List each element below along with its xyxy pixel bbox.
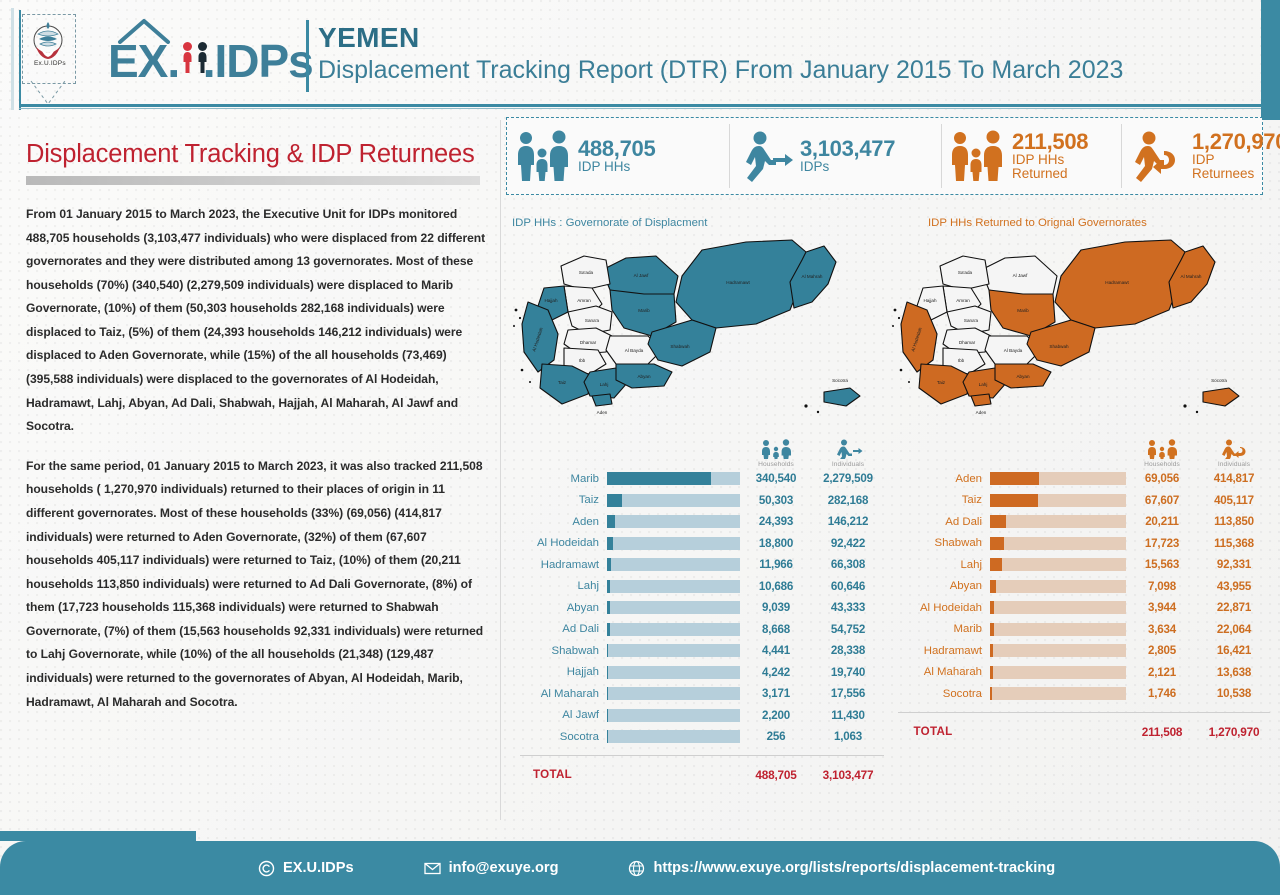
table-row: Hajjah4,24219,740 [506,662,884,684]
map-label-saada: Sa'ada [579,270,594,275]
map-label-socotra: Socotra [832,378,848,383]
column-label: Individuals [832,461,864,468]
table-row: Al Maharah3,17117,556 [506,683,884,705]
row-bar-track [990,623,1126,636]
row-individuals-value: 405,117 [1198,494,1270,507]
row-bar-fill [607,601,610,614]
region-aden [971,394,991,406]
row-bar [607,666,740,679]
row-bar-track [607,494,740,507]
row-individuals-value: 92,331 [1198,558,1270,571]
column-label: Households [1144,461,1180,468]
table-row: Shabwah4,44128,338 [506,640,884,662]
row-bar [990,472,1126,485]
walking-person-arrow-blue-icon [735,129,793,183]
title-divider [306,20,309,92]
row-governorate-label: Taiz [506,494,607,506]
row-bar [607,558,740,571]
row-bar-track [990,537,1126,550]
header-left-rule [19,10,21,110]
kpi-label-line1: IDP HHs [1012,153,1088,167]
narrative-paragraph-2: For the same period, 01 January 2015 to … [26,455,488,714]
yemen-map-displacement: Sa'ada Al Jawf Amran Hajjah Al Hodeidah … [506,232,886,427]
row-governorate-label: Hadramawt [884,645,990,657]
row-governorate-label: Hajjah [506,666,607,678]
row-bar-fill [990,623,994,636]
person-body-dark-icon [198,52,207,74]
row-households-value: 17,723 [1126,537,1198,550]
row-bar [990,687,1126,700]
walking-person-return-icon [1217,439,1251,459]
svg-text:Marib: Marib [1017,308,1029,313]
kpi-value: 3,103,477 [800,138,895,161]
svg-text:Aden: Aden [976,410,987,415]
svg-text:Taiz: Taiz [937,380,946,385]
displacement-table: Households Individuals Marib340,5402,279… [506,428,884,790]
kpi-label: IDP HHs [578,160,655,174]
row-bar-track [990,601,1126,614]
row-governorate-label: Abyan [506,602,607,614]
row-individuals-value: 22,871 [1198,601,1270,614]
logo-caption: Ex.U.IDPs [34,60,66,67]
table-row: Socotra1,74610,538 [884,683,1270,705]
row-households-value: 18,800 [740,537,812,550]
kpi-label-line1: IDP [1192,153,1280,167]
table-row: Shabwah17,723115,368 [884,533,1270,555]
kpi-value: 488,705 [578,138,655,161]
svg-text:Amran: Amran [956,298,970,303]
table-header: Households Individuals [506,428,884,468]
row-bar-track [607,558,740,571]
row-bar-fill [990,537,1004,550]
yemen-map-svg-orange: Sa'adaAl Jawf AmranHajjah Al Hodeidah Ma… [880,232,1270,427]
table-row: Socotra2561,063 [506,726,884,748]
row-bar-fill [607,709,608,722]
row-households-value: 9,039 [740,601,812,614]
footer-copyright: EX.U.IDPs [258,860,354,877]
row-bar-track [607,537,740,550]
row-households-value: 2,805 [1126,644,1198,657]
row-households-value: 20,211 [1126,515,1198,528]
row-bar-fill [607,515,615,528]
row-bar-track [607,709,740,722]
map-title-displacement: IDP HHs : Governorate of Displacment [512,217,707,229]
table-row: Al Jawf2,20011,430 [506,705,884,727]
narrative-paragraph-1: From 01 January 2015 to March 2023, the … [26,203,488,439]
row-bar-fill [607,537,613,550]
table-body: Marib340,5402,279,509Taiz50,303282,168Ad… [506,468,884,748]
header-right-accent-bar [1261,0,1280,120]
svg-text:Al Mahrah: Al Mahrah [1181,274,1202,279]
svg-text:Sana'a: Sana'a [964,318,979,323]
header-underline [19,104,1261,107]
map-label-abyan: Abyan [637,374,650,379]
row-households-value: 8,668 [740,623,812,636]
row-individuals-value: 54,752 [812,623,884,636]
row-bar [990,580,1126,593]
row-bar [607,709,740,722]
total-households: 211,508 [1126,725,1198,739]
kpi-label-line2: Returned [1012,167,1088,181]
row-governorate-label: Aden [506,516,607,528]
kpi-value: 211,508 [1012,131,1088,154]
family-icon [1145,439,1179,459]
table-row: Al Hodeidah18,80092,422 [506,533,884,555]
row-individuals-value: 60,646 [812,580,884,593]
row-bar-track [607,730,740,743]
svg-text:Dhamar: Dhamar [959,340,976,345]
map-label-al-mahrah: Al Mahrah [802,274,823,279]
row-individuals-value: 19,740 [812,666,884,679]
row-individuals-value: 92,422 [812,537,884,550]
row-bar-fill [990,687,992,700]
row-bar [607,494,740,507]
row-bar-fill [990,666,993,679]
footer-copyright-text: EX.U.IDPs [283,860,354,876]
map-title-returns: IDP HHs Returned to Orignal Governorates [928,217,1147,229]
narrative-panel: Displacement Tracking & IDP Returnees Fr… [26,140,488,714]
total-households: 488,705 [740,768,812,782]
row-bar [607,580,740,593]
table-body: Aden69,056414,817Taiz67,607405,117Ad Dal… [884,468,1270,705]
wordmark-suffix: .IDPs [203,35,313,87]
svg-text:Shabwah: Shabwah [1049,344,1069,349]
row-individuals-value: 414,817 [1198,472,1270,485]
footer-email[interactable]: info@exuye.org [424,860,559,877]
map-label-hadramawt: Hadramawt [726,280,750,285]
row-bar-fill [607,644,608,657]
row-households-value: 4,441 [740,644,812,657]
row-bar-track [990,666,1126,679]
row-individuals-value: 10,538 [1198,687,1270,700]
row-bar [990,666,1126,679]
column-label: Households [758,461,794,468]
svg-text:Abyan: Abyan [1016,374,1029,379]
row-individuals-value: 17,556 [812,687,884,700]
kpi-label-line2: Returnees [1192,167,1280,181]
map-label-ibb: Ibb [579,358,586,363]
table-row: Taiz50,303282,168 [506,490,884,512]
row-individuals-value: 13,638 [1198,666,1270,679]
walking-person-return-orange-icon [1127,129,1185,183]
row-bar-fill [607,580,610,593]
row-bar [607,623,740,636]
row-individuals-value: 282,168 [812,494,884,507]
region-aden [592,394,612,406]
kpi-label: IDPs [800,160,895,174]
column-households: Households [1126,439,1198,468]
region-socotra [1203,388,1239,406]
yemen-map-svg-blue: Sa'ada Al Jawf Amran Hajjah Al Hodeidah … [506,232,886,427]
table-total-rule [520,755,884,756]
family-icon [759,439,793,459]
row-households-value: 50,303 [740,494,812,507]
logo-dashed-pointer [30,80,66,106]
row-bar [990,558,1126,571]
row-bar-track [607,580,740,593]
row-bar-track [990,644,1126,657]
footer-email-text: info@exuye.org [449,860,559,876]
row-households-value: 15,563 [1126,558,1198,571]
row-households-value: 4,242 [740,666,812,679]
row-governorate-label: Marib [884,623,990,635]
table-row: Abyan7,09843,955 [884,576,1270,598]
row-bar-fill [607,494,622,507]
row-bar [607,472,740,485]
row-bar [607,687,740,700]
row-governorate-label: Lahj [506,580,607,592]
row-individuals-value: 1,063 [812,730,884,743]
table-row: Aden24,393146,212 [506,511,884,533]
map-label-sanaa: Sana'a [585,318,600,323]
row-bar-track [990,515,1126,528]
svg-text:Lahj: Lahj [979,382,988,387]
page-footer: EX.U.IDPs info@exuye.org https://www.exu… [0,841,1280,895]
row-bar [990,494,1126,507]
yemen-map-returns: Sa'adaAl Jawf AmranHajjah Al Hodeidah Ma… [880,232,1270,427]
walking-person-arrow-icon [831,439,865,459]
row-households-value: 7,098 [1126,580,1198,593]
map-label-amran: Amran [577,298,591,303]
row-bar-fill [607,472,711,485]
row-governorate-label: Al Hodeidah [506,537,607,549]
footer-website[interactable]: https://www.exuye.org/lists/reports/disp… [628,860,1055,877]
svg-text:Hajjah: Hajjah [923,298,936,303]
row-governorate-label: Taiz [884,494,990,506]
row-bar [607,644,740,657]
copyright-icon [258,860,275,877]
row-bar-track [607,666,740,679]
infographic-page: Ex.U.IDPs EX.ii.IDPs YEMEN Displacement … [0,0,1280,895]
row-governorate-label: Al Jawf [506,709,607,721]
row-governorate-label: Hadramawt [506,559,607,571]
row-bar-fill [990,644,993,657]
row-households-value: 2,121 [1126,666,1198,679]
globe-icon [628,860,645,877]
svg-text:Ibb: Ibb [958,358,965,363]
total-individuals: 3,103,477 [812,768,884,782]
row-bar-fill [990,601,994,614]
table-total-rule [898,712,1270,713]
row-governorate-label: Al Maharah [506,688,607,700]
row-households-value: 3,944 [1126,601,1198,614]
row-bar [607,730,740,743]
row-households-value: 256 [740,730,812,743]
wordmark-prefix: EX. [108,35,179,87]
row-governorate-label: Ad Dali [884,516,990,528]
table-header: Households Individuals [884,428,1270,468]
brand-wordmark-text: EX.ii.IDPs [108,38,313,84]
svg-text:Socotra: Socotra [1211,378,1227,383]
table-row: Hadramawt2,80516,421 [884,640,1270,662]
person-head-dark-icon [198,42,207,51]
family-blue-icon [513,129,571,183]
row-governorate-label: Abyan [884,580,990,592]
row-governorate-label: Ad Dali [506,623,607,635]
table-row: Marib340,5402,279,509 [506,468,884,490]
table-total-row: TOTAL 488,705 3,103,477 [506,760,884,790]
row-governorate-label: Al Hodeidah [884,602,990,614]
row-bar-fill [990,515,1006,528]
returns-table: Households Individuals Aden69,056414,817… [884,428,1270,747]
row-households-value: 3,634 [1126,623,1198,636]
table-row: Lahj15,56392,331 [884,554,1270,576]
row-governorate-label: Lahj [884,559,990,571]
row-bar-fill [607,687,608,700]
row-bar-track [607,687,740,700]
row-bar-fill [990,472,1039,485]
map-label-taiz: Taiz [558,380,567,385]
envelope-icon [424,860,441,877]
row-bar-track [990,580,1126,593]
map-label-dhamar: Dhamar [580,340,597,345]
table-row: Ad Dali8,66854,752 [506,619,884,641]
row-bar-fill [607,558,611,571]
row-households-value: 3,171 [740,687,812,700]
row-bar-track [990,558,1126,571]
row-bar [990,601,1126,614]
row-governorate-label: Socotra [506,731,607,743]
logo-emblem-icon [31,19,65,63]
row-individuals-value: 115,368 [1198,537,1270,550]
person-head-red-icon [183,42,192,51]
row-bar [990,623,1126,636]
brand-wordmark: EX.ii.IDPs [108,16,308,94]
row-bar-fill [607,623,610,636]
table-row: Abyan9,03943,333 [506,597,884,619]
page-header: Ex.U.IDPs EX.ii.IDPs YEMEN Displacement … [0,0,1280,112]
family-orange-icon [947,129,1005,183]
row-governorate-label: Marib [506,473,607,485]
row-individuals-value: 66,308 [812,558,884,571]
row-individuals-value: 43,333 [812,601,884,614]
row-bar [607,515,740,528]
row-households-value: 69,056 [1126,472,1198,485]
row-governorate-label: Socotra [884,688,990,700]
row-bar-fill [990,494,1038,507]
row-bar [990,537,1126,550]
total-individuals: 1,270,970 [1198,725,1270,739]
kpi-idps: 3,103,477 IDPs [729,118,941,194]
footer-website-text: https://www.exuye.org/lists/reports/disp… [653,860,1055,876]
report-title: Displacement Tracking Report (DTR) From … [318,56,1123,85]
row-bar [990,515,1126,528]
row-bar-track [607,644,740,657]
row-households-value: 11,966 [740,558,812,571]
row-households-value: 67,607 [1126,494,1198,507]
map-label-aden: Aden [597,410,608,415]
row-households-value: 24,393 [740,515,812,528]
total-label: TOTAL [506,768,599,781]
svg-text:Hadramawt: Hadramawt [1105,280,1129,285]
row-bar-track [607,601,740,614]
svg-text:Al Bayda: Al Bayda [1004,348,1023,353]
person-body-red-icon [183,52,192,74]
row-bar [990,644,1126,657]
svg-text:Al Jawf: Al Jawf [1013,273,1029,278]
map-label-al-bayda: Al Bayda [625,348,644,353]
row-governorate-label: Shabwah [506,645,607,657]
row-governorate-label: Al Maharah [884,666,990,678]
map-label-shabwah: Shabwah [670,344,690,349]
panel-divider [500,120,501,820]
svg-text:Sa'ada: Sa'ada [958,270,973,275]
column-households: Households [740,439,812,468]
kpi-summary-bar: 488,705 IDP HHs 3,103,477 IDPs [506,117,1263,195]
table-row: Marib3,63422,064 [884,619,1270,641]
table-row: Lahj10,68660,646 [506,576,884,598]
header-underline-thin [19,108,1261,109]
row-households-value: 1,746 [1126,687,1198,700]
footer-notch [0,831,196,841]
row-governorate-label: Aden [884,473,990,485]
kpi-idp-households: 488,705 IDP HHs [507,118,729,194]
row-bar-track [990,687,1126,700]
row-households-value: 10,686 [740,580,812,593]
section-title: Displacement Tracking & IDP Returnees [26,140,488,169]
organization-logo: Ex.U.IDPs [22,14,76,94]
table-row: Aden69,056414,817 [884,468,1270,490]
row-individuals-value: 43,955 [1198,580,1270,593]
row-bar-track [607,515,740,528]
map-label-lahj: Lahj [600,382,609,387]
row-bar [607,537,740,550]
country-title: YEMEN [318,22,420,54]
table-total-row: TOTAL 211,508 1,270,970 [884,717,1270,747]
region-socotra [824,388,860,406]
row-bar-fill [990,558,1002,571]
table-row: Al Maharah2,12113,638 [884,662,1270,684]
section-title-rule [26,176,480,185]
column-individuals: Individuals [1198,439,1270,468]
table-row: Al Hodeidah3,94422,871 [884,597,1270,619]
row-individuals-value: 146,212 [812,515,884,528]
table-row: Taiz67,607405,117 [884,490,1270,512]
row-individuals-value: 22,064 [1198,623,1270,636]
row-governorate-label: Shabwah [884,537,990,549]
row-individuals-value: 11,430 [812,709,884,722]
row-bar-fill [607,666,608,679]
column-individuals: Individuals [812,439,884,468]
row-individuals-value: 28,338 [812,644,884,657]
header-left-accent-bar [11,8,14,110]
table-row: Ad Dali20,211113,850 [884,511,1270,533]
row-individuals-value: 113,850 [1198,515,1270,528]
row-households-value: 340,540 [740,472,812,485]
row-individuals-value: 2,279,509 [812,472,884,485]
kpi-idp-returnees: 1,270,970 IDP Returnees [1121,118,1280,194]
map-label-hajjah: Hajjah [544,298,557,303]
row-bar-fill [990,580,996,593]
kpi-idp-households-returned: 211,508 IDP HHs Returned [941,118,1121,194]
row-individuals-value: 16,421 [1198,644,1270,657]
row-households-value: 2,200 [740,709,812,722]
map-label-al-jawf: Al Jawf [634,273,650,278]
row-bar-track [607,623,740,636]
map-label-marib: Marib [638,308,650,313]
row-bar [607,601,740,614]
column-label: Individuals [1218,461,1250,468]
total-label: TOTAL [884,725,982,738]
table-row: Hadramawt11,96666,308 [506,554,884,576]
kpi-value: 1,270,970 [1192,131,1280,154]
